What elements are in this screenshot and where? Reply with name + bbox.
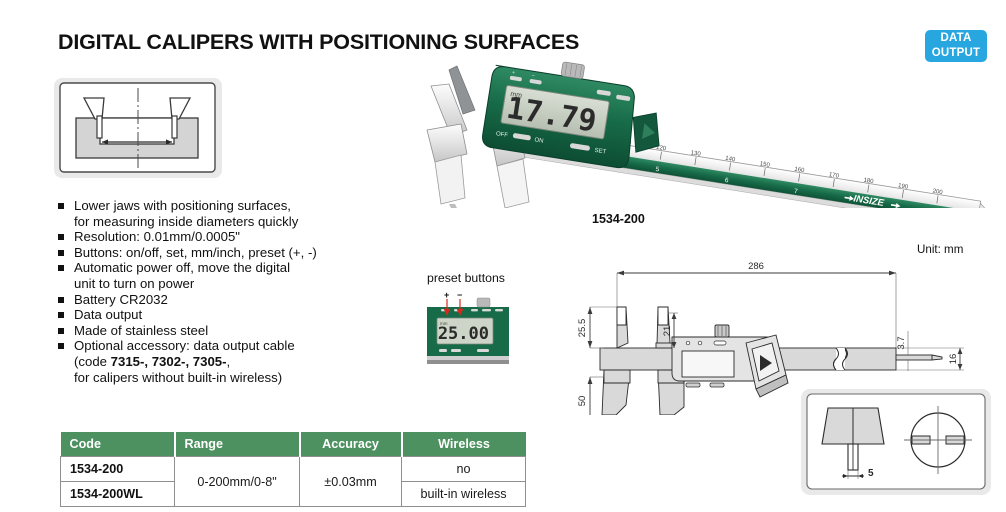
product-photo-caliper: 90100110 120130140 150160170 180190200 4… bbox=[405, 58, 995, 208]
column-header-range: Range bbox=[175, 432, 300, 457]
preset-buttons-photo: 25.00 mm + − bbox=[427, 292, 509, 364]
bullet-square-icon bbox=[58, 343, 64, 349]
feature-text-line2: for measuring inside diameters quickly bbox=[74, 214, 398, 230]
feature-item: Resolution: 0.01mm/0.0005" bbox=[58, 229, 398, 245]
preset-plus-label: + bbox=[444, 292, 449, 300]
feature-text: Optional accessory: data output cable bbox=[74, 338, 295, 353]
feature-item: Buttons: on/off, set, mm/inch, preset (+… bbox=[58, 245, 398, 261]
preset-lcd-reading: 25.00 bbox=[438, 324, 489, 344]
bullet-square-icon bbox=[58, 265, 64, 271]
dim-beam-height: 16 bbox=[948, 354, 959, 365]
dim-rod-thickness: 3.7 bbox=[896, 336, 907, 349]
feature-text: Data output bbox=[74, 307, 142, 322]
cell-code: 1534-200WL bbox=[61, 482, 175, 507]
cell-code: 1534-200 bbox=[61, 457, 175, 482]
dim-inner-jaw: 21 bbox=[662, 326, 673, 337]
bullet-square-icon bbox=[58, 250, 64, 256]
column-header-code: Code bbox=[61, 432, 175, 457]
bullet-square-icon bbox=[58, 297, 64, 303]
feature-text: Resolution: 0.01mm/0.0005" bbox=[74, 229, 240, 244]
feature-text: Automatic power off, move the digital bbox=[74, 260, 290, 275]
bullet-square-icon bbox=[58, 234, 64, 240]
table-header-row: Code Range Accuracy Wireless bbox=[61, 432, 526, 457]
table-row: 1534-200 0-200mm/0-8" ±0.03mm no bbox=[61, 457, 526, 482]
dim-detail-tip: 5 bbox=[868, 468, 874, 479]
feature-item: Lower jaws with positioning surfaces, fo… bbox=[58, 198, 398, 229]
feature-item: Made of stainless steel bbox=[58, 323, 398, 339]
product-code-label: 1534-200 bbox=[592, 212, 645, 226]
feature-item: Data output bbox=[58, 307, 398, 323]
features-list: Lower jaws with positioning surfaces, fo… bbox=[58, 198, 398, 385]
preset-buttons-caption: preset buttons bbox=[427, 271, 505, 285]
feature-text-line2: (code 7315-, 7302-, 7305-, bbox=[74, 354, 398, 370]
bullet-square-icon bbox=[58, 203, 64, 209]
preset-minus-label: − bbox=[457, 292, 462, 300]
feature-text: Made of stainless steel bbox=[74, 323, 208, 338]
feature-item: Automatic power off, move the digital un… bbox=[58, 260, 398, 291]
feature-text-line2: unit to turn on power bbox=[74, 276, 398, 292]
catalog-page: DIGITAL CALIPERS WITH POSITIONING SURFAC… bbox=[0, 0, 1006, 512]
feature-item: Optional accessory: data output cable (c… bbox=[58, 338, 398, 385]
feature-text: Buttons: on/off, set, mm/inch, preset (+… bbox=[74, 245, 317, 260]
svg-text:mm: mm bbox=[440, 321, 448, 326]
feature-text: Battery CR2032 bbox=[74, 292, 168, 307]
column-header-accuracy: Accuracy bbox=[300, 432, 402, 457]
cell-wireless: built-in wireless bbox=[402, 482, 526, 507]
cell-accuracy: ±0.03mm bbox=[300, 457, 402, 507]
application-diagram-icon bbox=[52, 76, 227, 182]
specification-table: Code Range Accuracy Wireless 1534-200 0-… bbox=[60, 432, 526, 507]
feature-text-line3: for calipers without built-in wireless) bbox=[74, 370, 398, 386]
cell-range: 0-200mm/0-8" bbox=[175, 457, 300, 507]
dim-upper-jaw-depth: 25.5 bbox=[577, 319, 588, 338]
bullet-square-icon bbox=[58, 312, 64, 318]
column-header-wireless: Wireless bbox=[402, 432, 526, 457]
dim-lower-jaw: 50 bbox=[577, 396, 588, 407]
badge-line-1: DATA bbox=[940, 31, 971, 46]
feature-text: Lower jaws with positioning surfaces, bbox=[74, 198, 291, 213]
bullet-square-icon bbox=[58, 328, 64, 334]
jaw-detail-inset: 5 bbox=[798, 386, 994, 498]
page-title: DIGITAL CALIPERS WITH POSITIONING SURFAC… bbox=[58, 30, 579, 55]
accessory-codes: 7315-, 7302-, 7305- bbox=[111, 354, 227, 369]
cell-wireless: no bbox=[402, 457, 526, 482]
feature-item: Battery CR2032 bbox=[58, 292, 398, 308]
dim-total-length: 286 bbox=[748, 261, 764, 272]
